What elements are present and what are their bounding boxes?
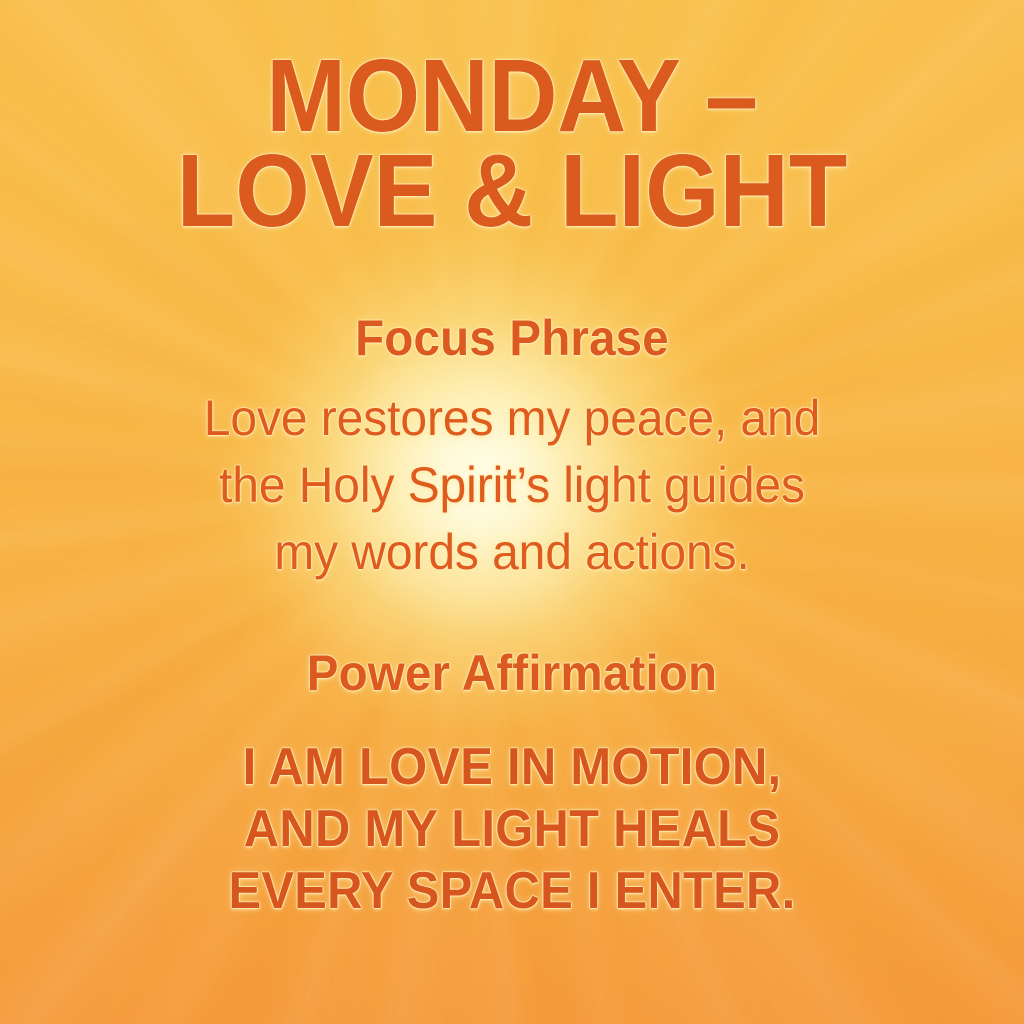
focus-phrase-heading-text: Focus Phrase [26, 310, 999, 366]
focus-phrase-section-heading: Focus Phrase [0, 310, 1024, 366]
title-line-1: MONDAY – [36, 48, 988, 143]
focus-phrase-line-1: Love restores my peace, and [20, 385, 1003, 452]
focus-phrase-line-2: the Holy Spirit’s light guides [20, 452, 1003, 519]
poster-title: MONDAY – LOVE & LIGHT [0, 48, 1024, 238]
affirmation-line-3: EVERY SPACE I ENTER. [31, 860, 994, 922]
power-affirmation-heading-text: Power Affirmation [26, 645, 999, 701]
inspirational-quote-poster: MONDAY – LOVE & LIGHT Focus Phrase Love … [0, 0, 1024, 1024]
power-affirmation-section-heading: Power Affirmation [0, 645, 1024, 701]
power-affirmation-body: I AM LOVE IN MOTION, AND MY LIGHT HEALS … [0, 736, 1024, 922]
title-line-2: LOVE & LIGHT [36, 143, 988, 238]
affirmation-line-2: AND MY LIGHT HEALS [31, 798, 994, 860]
poster-content: MONDAY – LOVE & LIGHT Focus Phrase Love … [0, 0, 1024, 1024]
focus-phrase-line-3: my words and actions. [20, 519, 1003, 586]
focus-phrase-body: Love restores my peace, and the Holy Spi… [0, 385, 1024, 586]
affirmation-line-1: I AM LOVE IN MOTION, [31, 736, 994, 798]
